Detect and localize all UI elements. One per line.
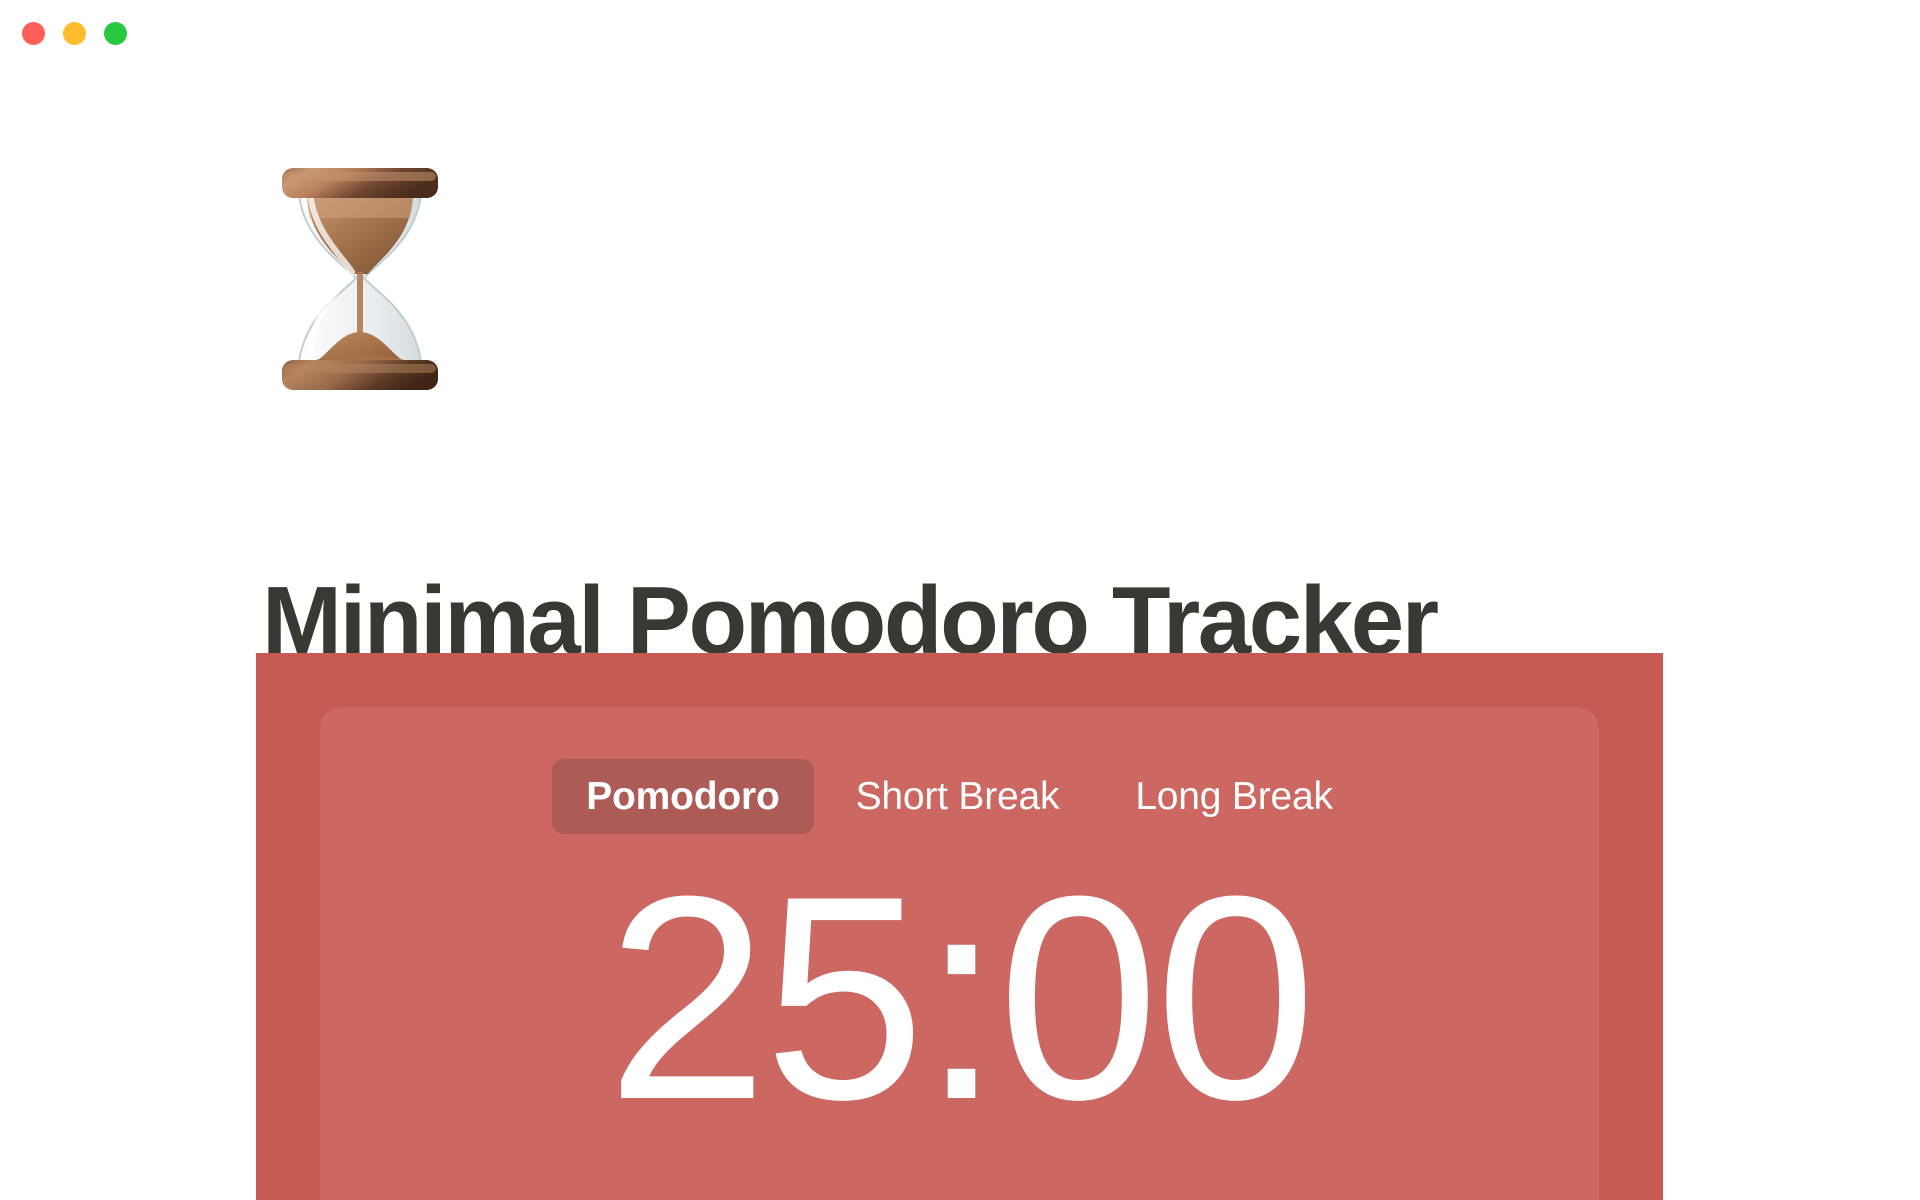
- timer-display: 25:00: [320, 848, 1599, 1148]
- tab-long-break[interactable]: Long Break: [1101, 759, 1366, 834]
- tab-pomodoro[interactable]: Pomodoro: [552, 759, 813, 834]
- app-window: Minimal Pomodoro Tracker Pomodoro Short …: [0, 0, 1920, 1200]
- tab-short-break[interactable]: Short Break: [822, 759, 1094, 834]
- page-content: Minimal Pomodoro Tracker Pomodoro Short …: [0, 0, 1920, 1200]
- hourglass-icon: [272, 160, 448, 398]
- timer-panel: Pomodoro Short Break Long Break 25:00: [320, 707, 1599, 1200]
- pomodoro-timer-card: Pomodoro Short Break Long Break 25:00: [256, 653, 1663, 1200]
- timer-mode-tabs: Pomodoro Short Break Long Break: [320, 760, 1599, 832]
